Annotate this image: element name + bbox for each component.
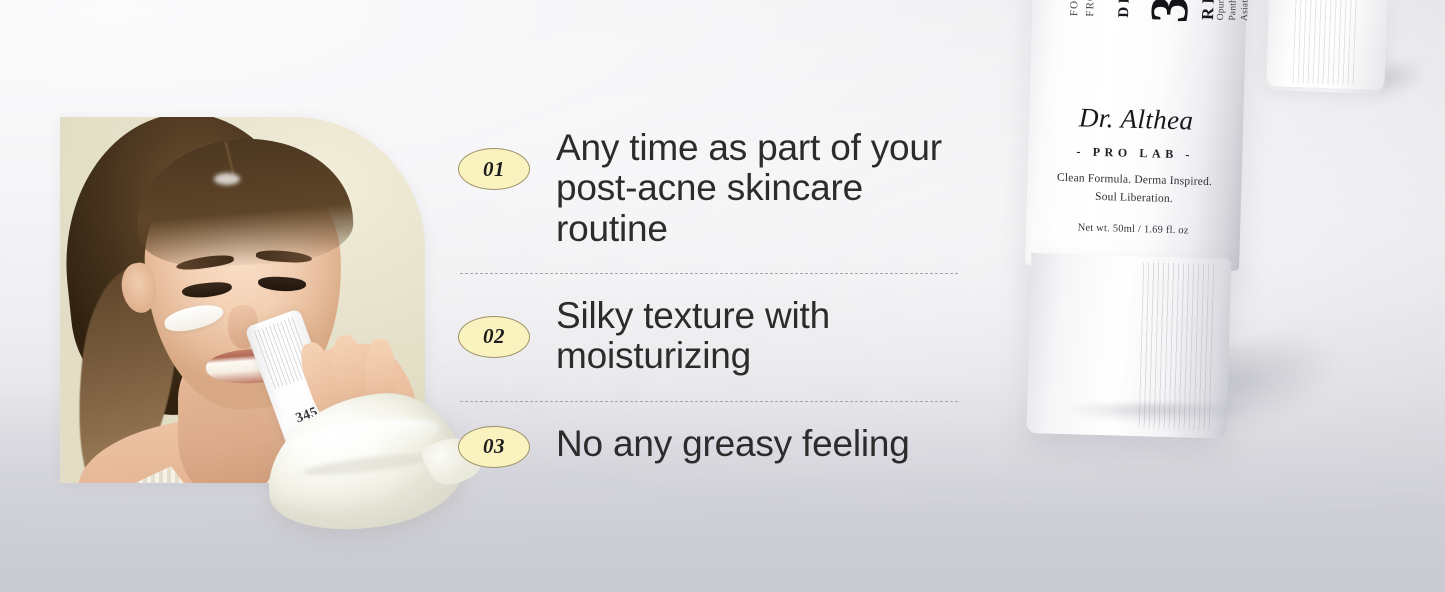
feature-item-01: 01 Any time as part of your post-acne sk…	[458, 128, 964, 249]
label-claim-top-2: FROM ARTIFICIAL FRAGRANCE	[1084, 0, 1101, 17]
feature-badge-01: 01	[458, 148, 530, 190]
feature-text-01: Any time as part of your post-acne skinc…	[556, 128, 964, 249]
product-tube-contact-shadow	[1056, 404, 1256, 430]
product-feature-banner: 345 RELIEF CREAM 01 Any time as part of …	[0, 0, 1445, 592]
product-tube: FOR ALL SKIN TYPES FROM ARTIFICIAL FRAGR…	[1023, 0, 1255, 343]
feature-item-03: 03 No any greasy feeling	[458, 424, 964, 468]
feature-text-03: No any greasy feeling	[556, 424, 910, 464]
background-tube-ribbing	[1293, 0, 1358, 85]
feature-text-02: Silky texture with moisturizing	[556, 296, 964, 377]
label-ingredient-2: Panthenol / Niacinamide	[1228, 0, 1241, 21]
feature-item-02: 02 Silky texture with moisturizing	[458, 296, 964, 377]
label-product-number: 345	[1138, 0, 1203, 24]
feature-divider	[460, 401, 958, 402]
product-tube-body: FOR ALL SKIN TYPES FROM ARTIFICIAL FRAGR…	[1025, 0, 1255, 271]
forehead-highlight	[214, 173, 240, 185]
label-brand-signature: Dr. Althea	[1029, 101, 1244, 138]
background-tube-cap	[1266, 0, 1387, 90]
feature-list: 01 Any time as part of your post-acne sk…	[458, 128, 964, 468]
feature-badge-03: 03	[458, 426, 530, 468]
feature-badge-02: 02	[458, 316, 530, 358]
label-brand-vertical: DR. ALTHEA	[1116, 0, 1136, 18]
feature-divider	[460, 273, 958, 274]
